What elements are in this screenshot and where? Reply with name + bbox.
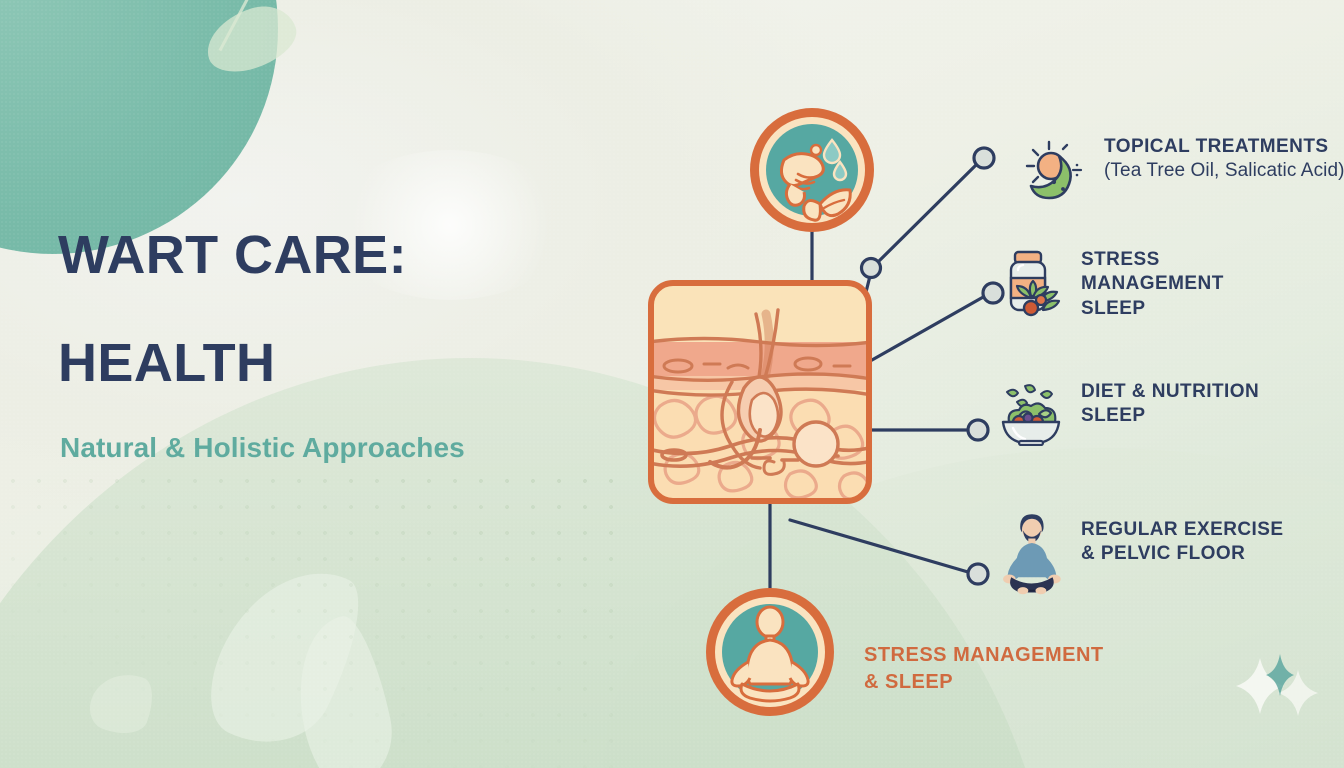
- list-item-regular-exercise[interactable]: REGULAR EXERCISE & PELVIC FLOOR: [995, 516, 1284, 588]
- sparkle-decoration: [1230, 648, 1326, 734]
- page-title-line-2: HEALTH: [58, 336, 678, 390]
- bottom-caption: STRESS MANAGEMENT & SLEEP: [864, 642, 1104, 696]
- list-item-text: STRESS MANAGEMENT SLEEP: [1081, 246, 1224, 321]
- list-item-text: REGULAR EXERCISE & PELVIC FLOOR: [1081, 516, 1284, 567]
- list-item-line-2: (Tea Tree Oil, Salicatic Acid): [1104, 159, 1344, 183]
- halftone-dot-pattern: [0, 468, 620, 768]
- list-item-line-1: TOPICAL TREATMENTS: [1104, 135, 1344, 159]
- list-item-stress-management[interactable]: STRESS MANAGEMENT SLEEP: [995, 246, 1224, 321]
- list-item-text: TOPICAL TREATMENTS (Tea Tree Oil, Salica…: [1104, 133, 1344, 184]
- list-item-diet-nutrition[interactable]: DIET & NUTRITION SLEEP: [995, 378, 1259, 450]
- list-item-topical-treatments[interactable]: TOPICAL TREATMENTS (Tea Tree Oil, Salica…: [1018, 133, 1344, 205]
- four-point-star-sparkle: [1236, 654, 1318, 716]
- list-item-line-2: SLEEP: [1081, 404, 1259, 428]
- sun-moon-leaf-icon: [1018, 133, 1090, 205]
- supplement-bottle-icon: [995, 246, 1067, 318]
- skin-cross-section-diagram: [648, 280, 872, 504]
- list-item-line-1: REGULAR EXERCISE: [1081, 518, 1284, 542]
- list-item-line-1: STRESS: [1081, 248, 1224, 272]
- list-item-line-2: MANAGEMENT: [1081, 272, 1224, 296]
- bottom-caption-line-2: & SLEEP: [864, 669, 1104, 696]
- page-title-line-1: WART CARE:: [58, 228, 678, 282]
- badge-topical-treatment[interactable]: [746, 104, 878, 236]
- salad-bowl-icon: [995, 378, 1067, 450]
- list-item-line-1: DIET & NUTRITION: [1081, 380, 1259, 404]
- bottom-caption-line-1: STRESS MANAGEMENT: [864, 642, 1104, 669]
- list-item-line-3: SLEEP: [1081, 297, 1224, 321]
- list-item-text: DIET & NUTRITION SLEEP: [1081, 378, 1259, 429]
- infographic-canvas: WART CARE: HEALTH Natural & Holistic App…: [0, 0, 1344, 768]
- meditating-person-icon: [995, 516, 1067, 588]
- badge-stress-management[interactable]: [702, 584, 838, 720]
- page-subtitle: Natural & Holistic Approaches: [60, 432, 678, 464]
- headline-block: WART CARE: HEALTH Natural & Holistic App…: [58, 228, 678, 464]
- list-item-line-2: & PELVIC FLOOR: [1081, 542, 1284, 566]
